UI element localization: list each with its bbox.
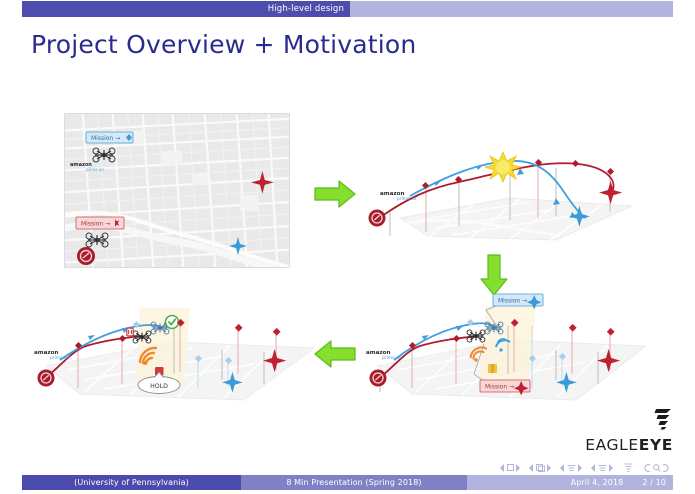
map-label-mission-blue: Mission → [86,132,133,143]
svg-text:prime air: prime air [397,196,417,202]
nav-next-section-icon [608,464,613,472]
page-title: Project Overview + Motivation [31,30,416,59]
ground-plane-collision [400,198,632,240]
origin-badge-collision [369,210,386,227]
nav-section-group[interactable] [591,464,613,472]
origin-badge-neg [370,370,387,387]
vendor-label-hold: amazon prime air [34,350,70,361]
beamer-navigation-bar[interactable] [500,463,669,472]
nav-section-icon [598,464,607,472]
figure-city-map: Mission → amazon prime air [64,113,290,268]
header-bar: High-level design [22,1,673,17]
nav-prev-frame-icon [529,464,534,472]
svg-text:prime air: prime air [50,355,70,361]
nav-forward-icon [662,464,669,472]
svg-text:Mission →: Mission → [485,384,514,391]
collision-burst-icon [485,152,521,182]
logo-text-light: EAGLE [585,436,639,454]
nav-doc-icon [624,463,633,472]
nav-next-frame-icon [546,464,551,472]
nav-subsection-icon [567,464,576,472]
svg-text:prime air: prime air [86,167,104,172]
eagleeye-wordmark: EAGLEEYE [585,436,673,454]
dest-red-collision [599,181,622,204]
footer-date: April 4, 2018 [571,478,624,487]
figure-negotiation: Mission → Mission → amazon prime air [360,288,652,406]
header-section-title: High-level design [268,2,344,16]
nav-prev-slide-icon [500,464,505,472]
map-label-mission-red: Mission → [76,217,124,229]
svg-text:Mission →: Mission → [91,135,120,142]
vendor-label-collision: amazon prime air [380,191,417,202]
nav-back-icon [644,464,651,472]
eagleeye-logo: EAGLEEYE [585,408,673,454]
header-bar-active-section: High-level design [22,1,350,17]
attention-cone [478,306,536,384]
footer-talk-title: 8 Min Presentation (Spring 2018) [241,475,467,490]
figure-hold-resolution: HOLD amazon prime air [32,300,324,405]
nav-slide-group[interactable] [500,464,520,472]
footer-bar: (University of Pennsylvania) 8 Min Prese… [22,475,673,490]
slide: High-level design Project Overview + Mot… [0,0,695,494]
nav-subsection-group[interactable] [560,464,582,472]
footer-date-page: April 4, 2018 2 / 10 [467,475,673,490]
nav-slide-icon [507,464,514,471]
nav-zoom-group[interactable] [644,464,669,472]
nav-next-subsection-icon [577,464,582,472]
nav-frame-icon [536,464,545,472]
footer-institution: (University of Pennsylvania) [22,475,241,490]
nav-next-slide-icon [515,464,520,472]
svg-text:Mission →: Mission → [81,221,110,228]
figure-collision: amazon prime air [360,140,650,250]
vendor-label-neg: amazon prime air [366,350,402,361]
check-approved-icon [166,316,179,329]
footer-page-number: 2 / 10 [642,478,666,487]
package-marker-neg [488,364,497,373]
search-icon [653,464,661,472]
nav-prev-section-icon [591,464,596,472]
arrow-right-icon [313,178,357,210]
origin-badge-hold [38,370,55,387]
map-origin-badge [77,247,95,265]
nav-frame-group[interactable] [529,464,551,472]
nav-prev-subsection-icon [560,464,565,472]
eagleeye-mark-icon [653,408,673,430]
svg-text:HOLD: HOLD [150,383,168,390]
drone-red-neg [467,330,485,342]
stop-hold-icon [127,328,133,336]
svg-text:prime air: prime air [382,355,402,361]
logo-text-bold: EYE [639,436,673,454]
svg-text:Mission →: Mission → [498,298,527,305]
